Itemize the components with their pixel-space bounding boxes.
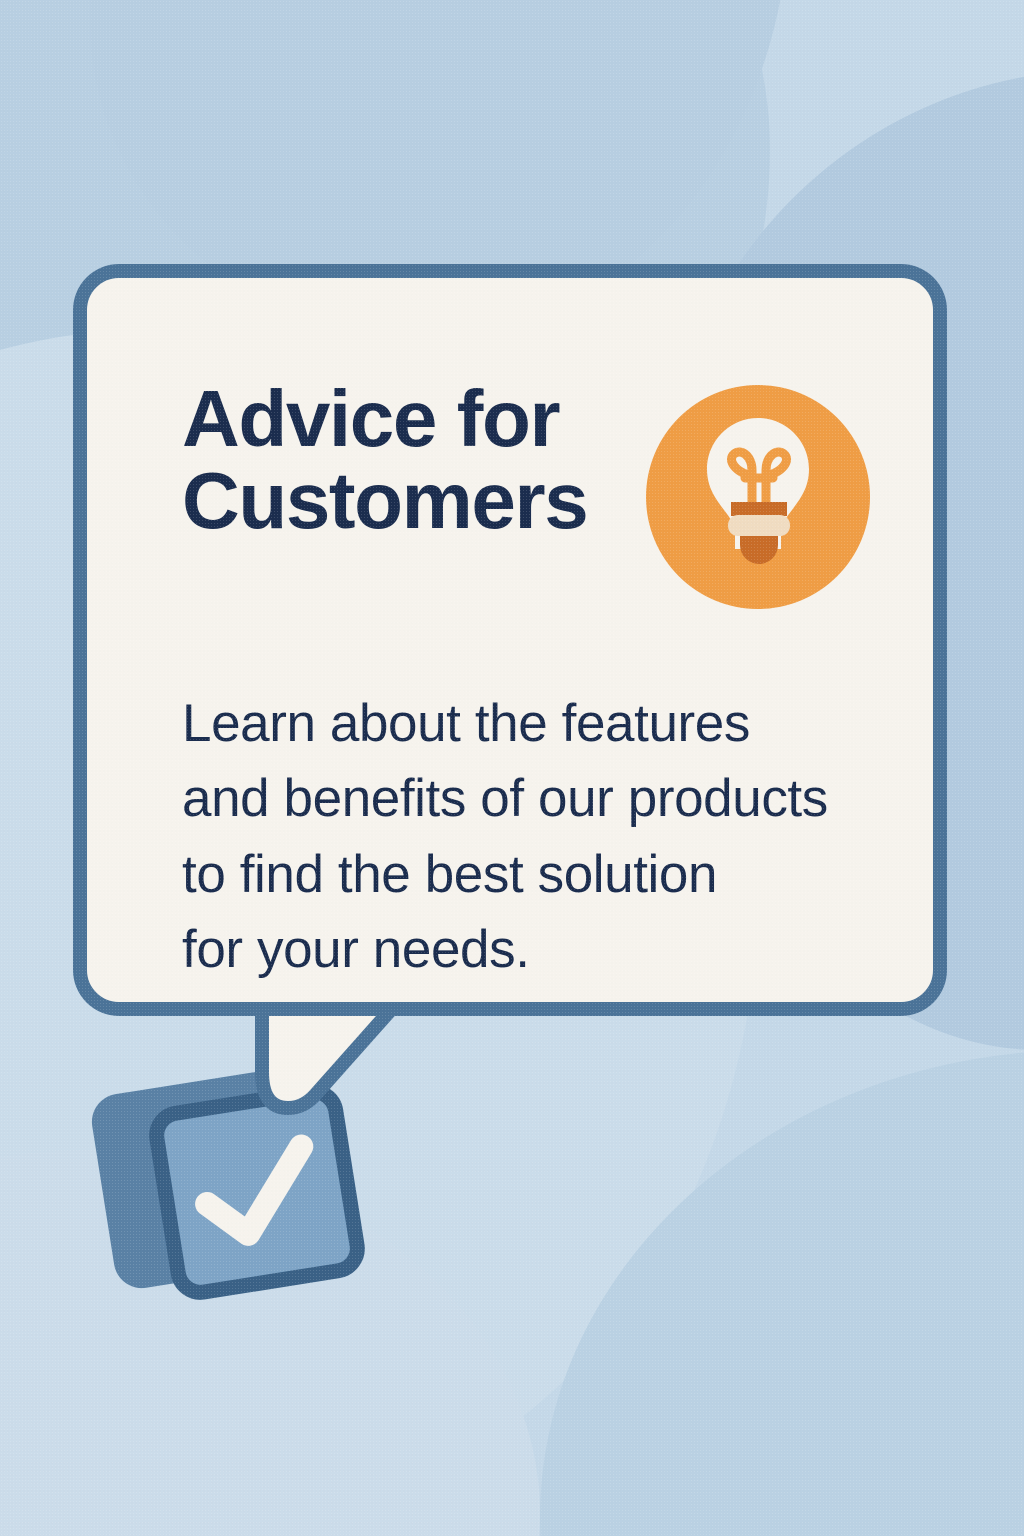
page-title: Advice for Customers bbox=[182, 378, 587, 543]
heading-row: Advice for Customers bbox=[182, 378, 873, 612]
body-text: Learn about the features and benefits of… bbox=[182, 686, 873, 987]
poster-canvas: Advice for Customers bbox=[0, 0, 1024, 1536]
lightbulb-icon bbox=[643, 382, 873, 612]
lightbulb-icon-svg bbox=[643, 382, 873, 612]
speech-bubble-card: Advice for Customers bbox=[73, 264, 947, 1016]
bubble-content: Advice for Customers bbox=[182, 378, 873, 987]
